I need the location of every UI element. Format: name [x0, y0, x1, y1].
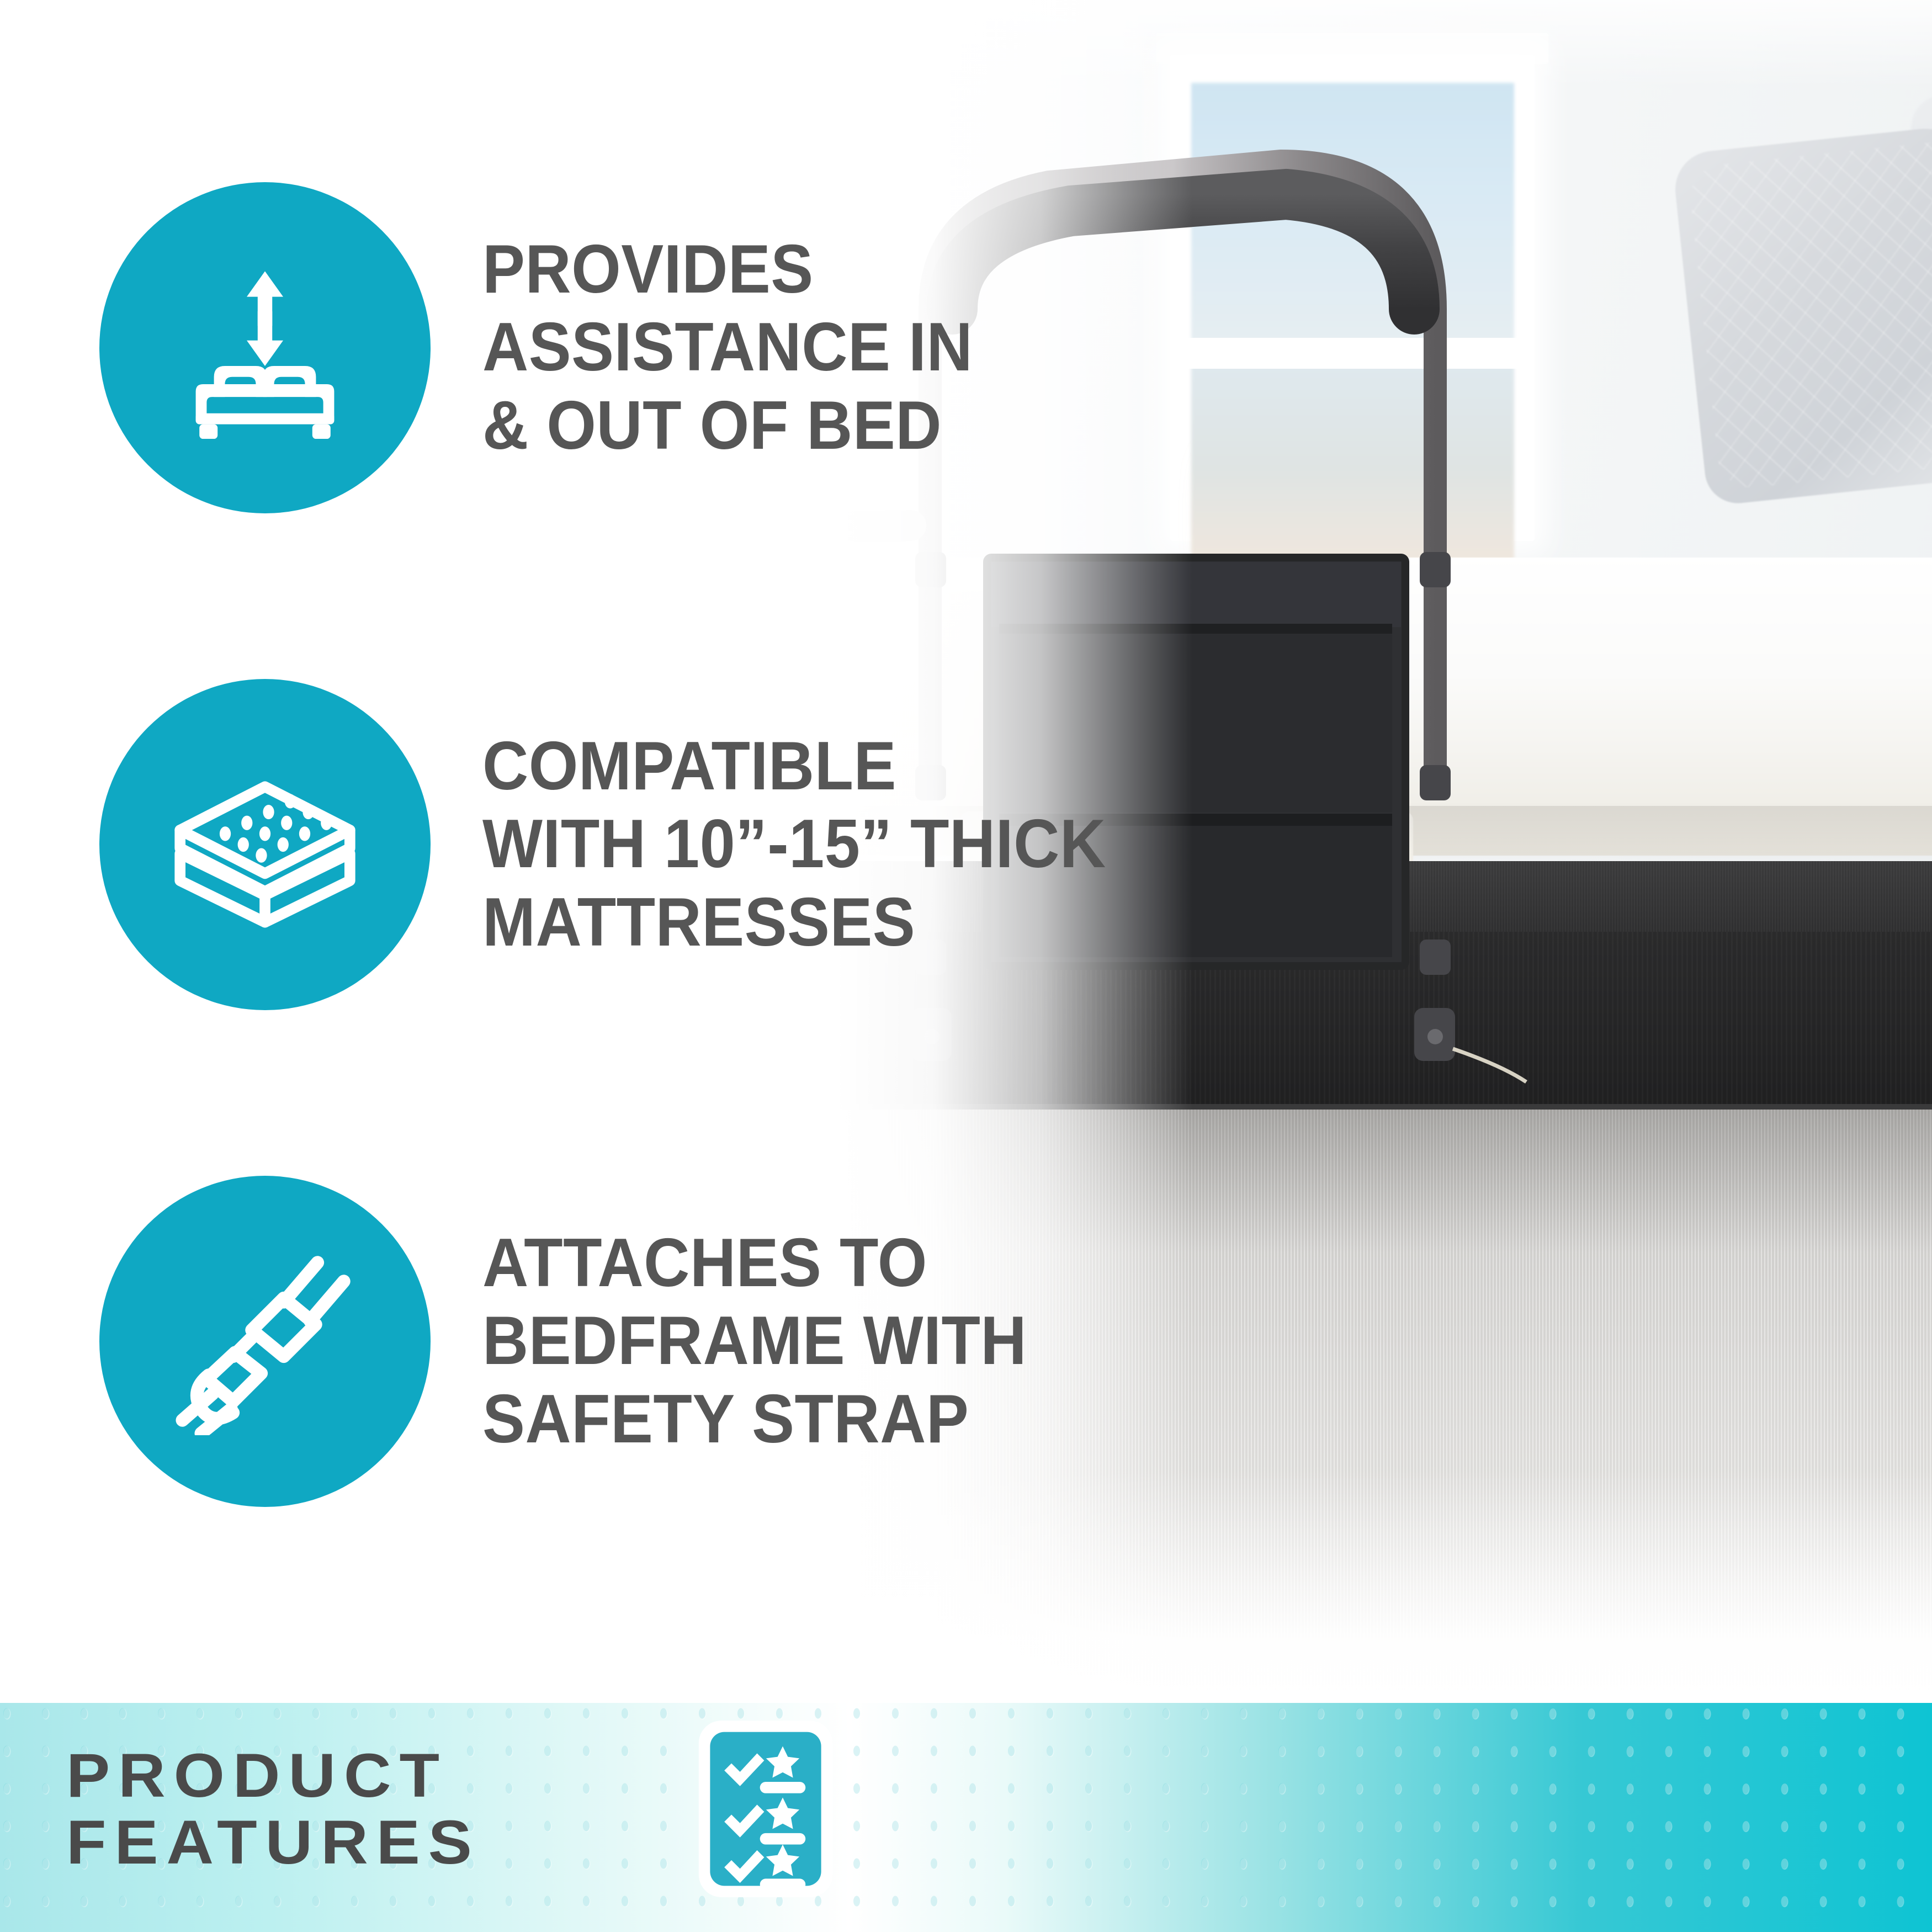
line-1	[760, 1782, 806, 1793]
line-2	[760, 1833, 806, 1845]
strap-buckle-knot-icon	[171, 1248, 359, 1435]
pouch-top-flap	[991, 562, 1401, 627]
banner-title: PRODUCT FEATURES	[66, 1743, 480, 1876]
product-features-banner: PRODUCT FEATURES	[0, 1703, 1932, 1932]
feature-label-2: COMPATIBLE WITH 10”-15” THICK MATTRESSES	[482, 728, 1106, 962]
feature-icon-circle-1	[99, 182, 431, 513]
line-3	[760, 1878, 806, 1890]
feature-row-2: COMPATIBLE WITH 10”-15” THICK MATTRESSES	[99, 679, 1153, 1010]
layered-mattress-icon	[166, 753, 364, 936]
bed-with-up-down-arrow-icon	[174, 257, 356, 439]
feature-label-1: PROVIDES ASSISTANCE IN & OUT OF BED	[482, 231, 973, 465]
feature-icon-circle-2	[99, 679, 431, 1010]
rail-foam-grip	[952, 194, 1414, 309]
infographic-canvas: PROVIDES ASSISTANCE IN & OUT OF BED	[0, 0, 1932, 1932]
feature-label-3: ATTACHES TO BEDFRAME WITH SAFETY STRAP	[482, 1224, 1027, 1458]
rail-clamp-screws	[924, 1029, 1443, 1044]
feature-row-1: PROVIDES ASSISTANCE IN & OUT OF BED	[99, 182, 1010, 513]
feature-icon-circle-3	[99, 1176, 431, 1507]
feature-row-3: ATTACHES TO BEDFRAME WITH SAFETY STRAP	[99, 1176, 1068, 1507]
checklist-with-stars-icon	[694, 1716, 837, 1902]
safety-strap-cable	[1453, 1049, 1526, 1082]
